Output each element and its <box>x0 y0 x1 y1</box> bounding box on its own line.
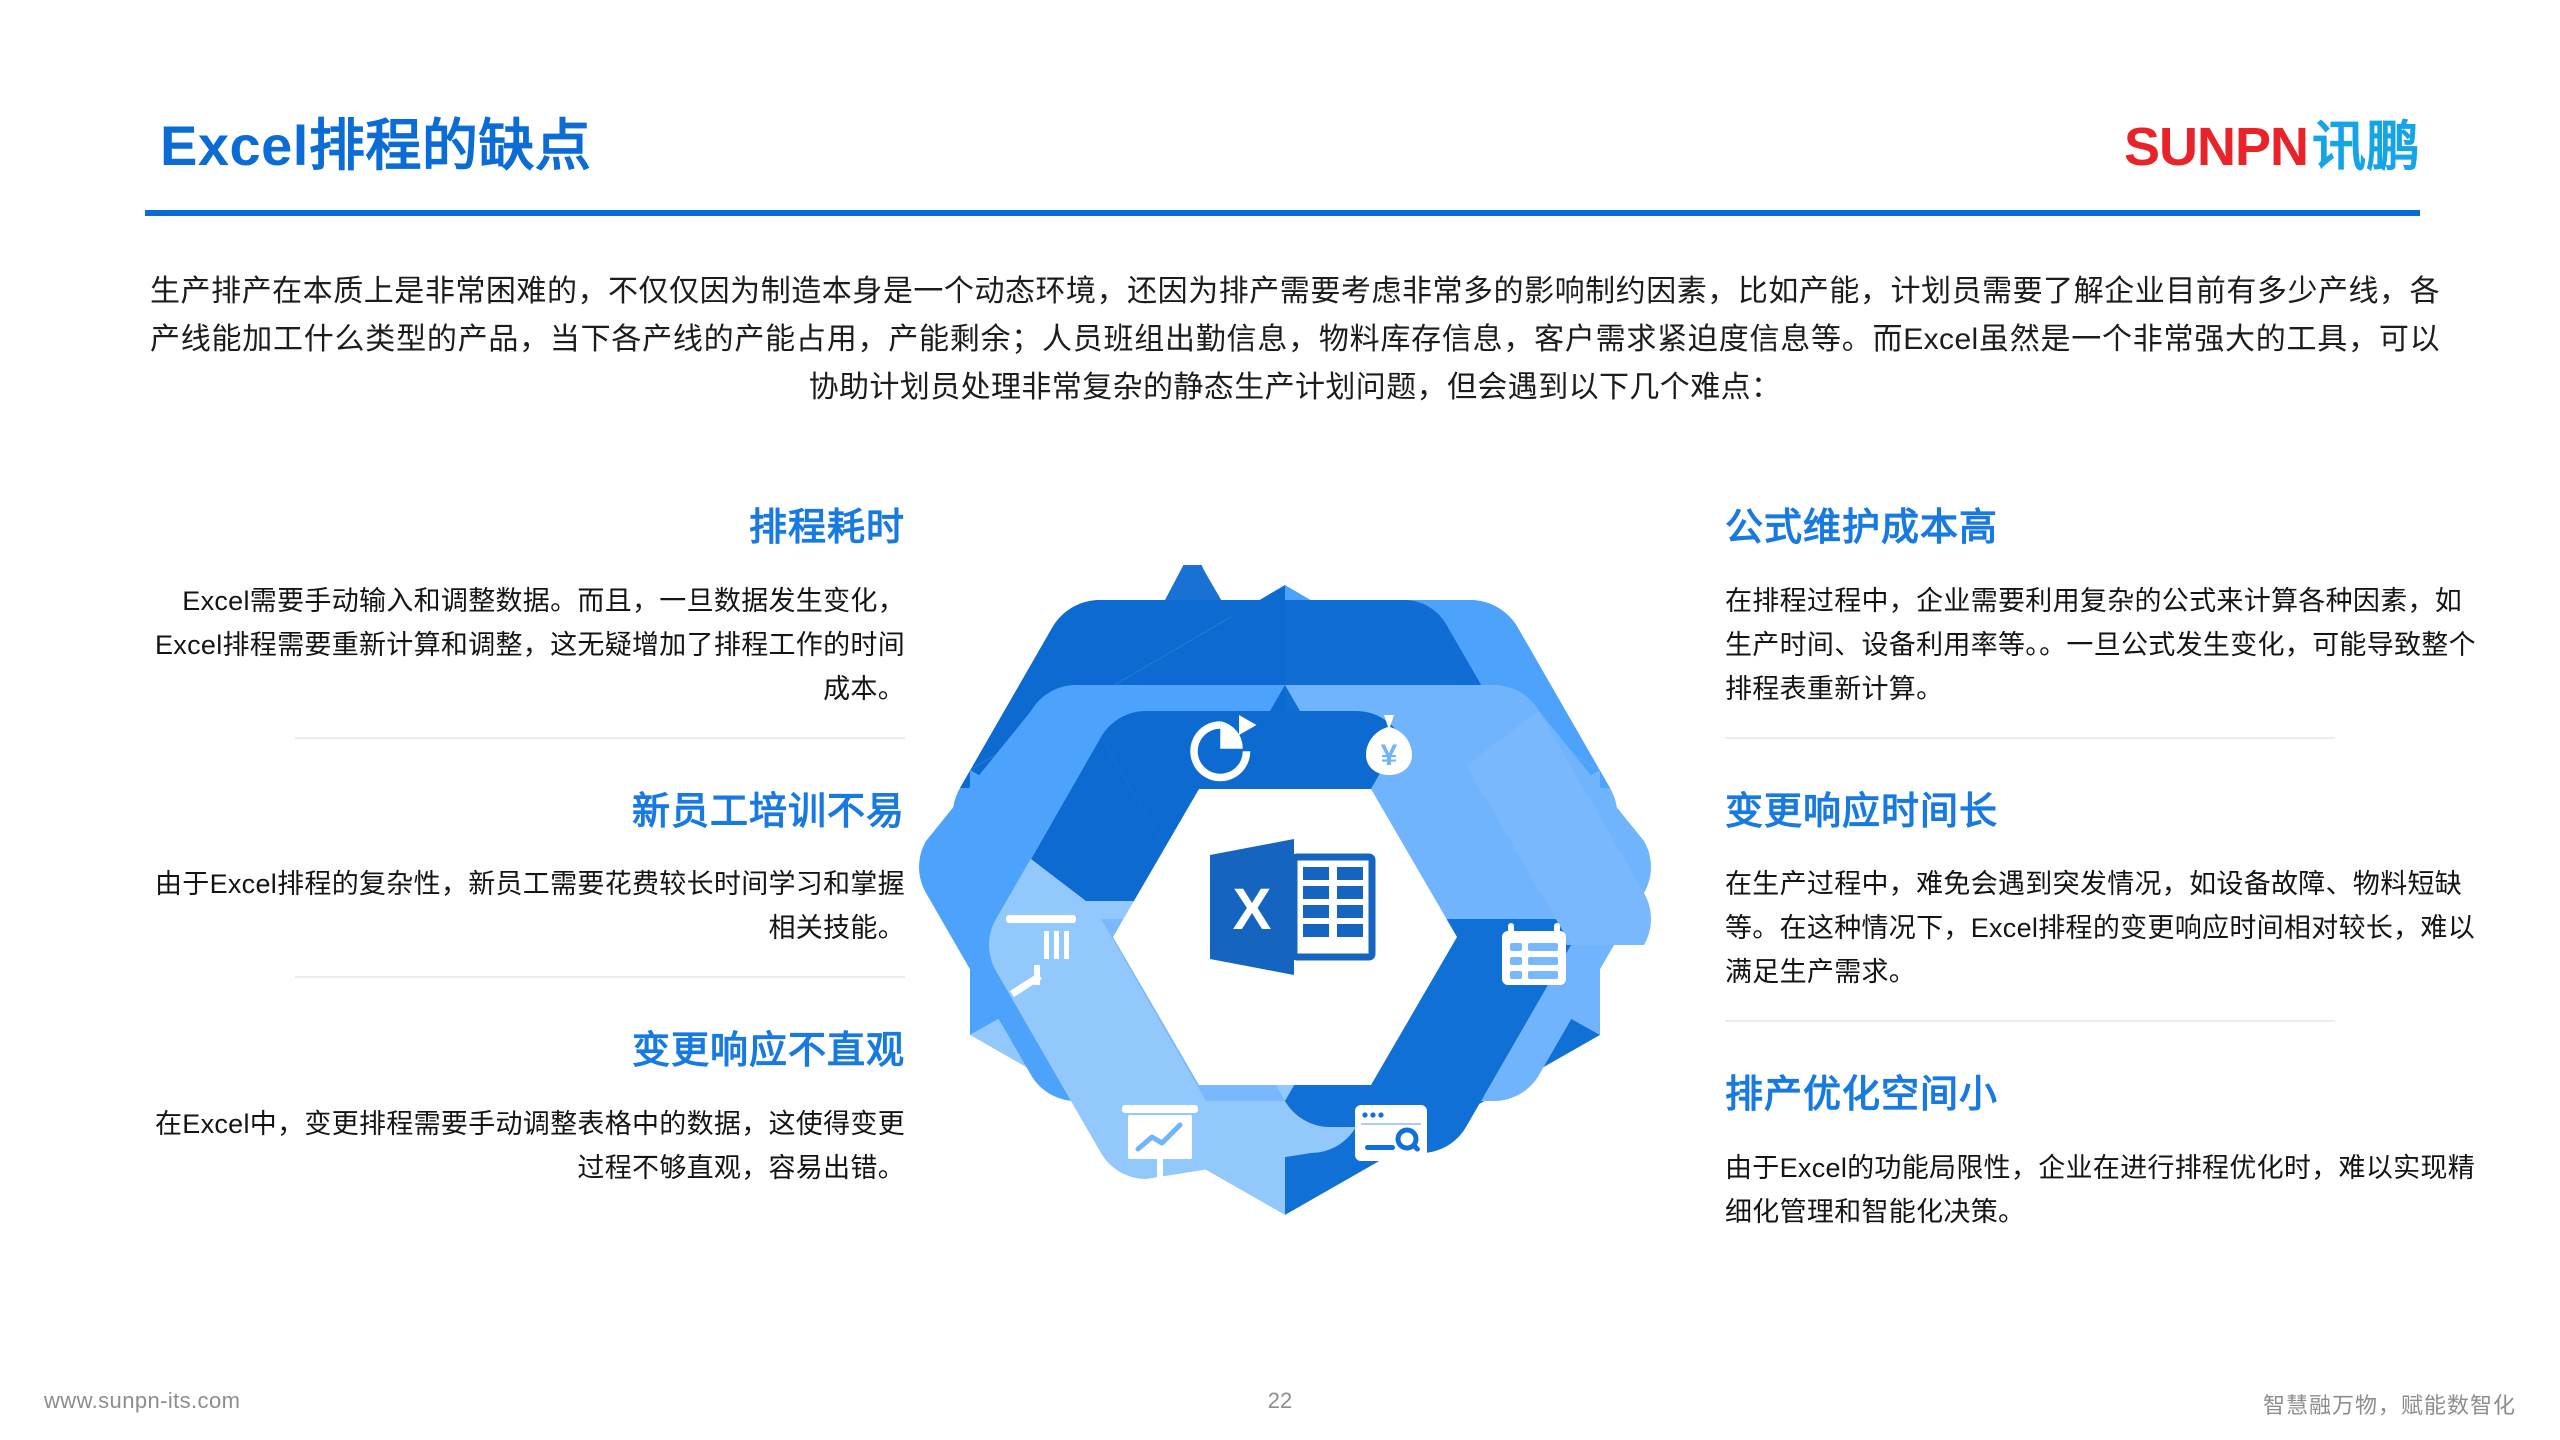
brand-logo-en: SUNPN <box>2124 117 2308 177</box>
intro-paragraph: 生产排产在本质上是非常困难的，不仅仅因为制造本身是一个动态环境，还因为排产需要考… <box>150 268 2440 412</box>
block-divider <box>295 737 905 739</box>
brand-logo-cn: 讯鹏 <box>2312 117 2420 177</box>
right-column: 公式维护成本高 在排程过程中，企业需要利用复杂的公式来计算各种因素，如生产时间、… <box>1725 505 2485 1234</box>
block-divider <box>295 976 905 978</box>
block-title: 变更响应时间长 <box>1725 789 2485 837</box>
block-body: 由于Excel的功能局限性，企业在进行排程优化时，难以实现精细化管理和智能化决策… <box>1725 1146 2485 1234</box>
block-divider <box>1725 737 2335 739</box>
feature-block-formula-cost: 公式维护成本高 在排程过程中，企业需要利用复杂的公式来计算各种因素，如生产时间、… <box>1725 505 2485 739</box>
block-title: 公式维护成本高 <box>1725 505 2485 553</box>
block-title: 排程耗时 <box>145 505 905 553</box>
calendar-list-icon <box>1502 923 1566 985</box>
block-divider <box>1725 1020 2335 1022</box>
block-body: 在排程过程中，企业需要利用复杂的公式来计算各种因素，如生产时间、设备利用率等。。… <box>1725 579 2485 711</box>
feature-block-scheduling-time: 排程耗时 Excel需要手动输入和调整数据。而且，一旦数据发生变化，Excel排… <box>145 505 905 739</box>
feature-block-change-visibility: 变更响应不直观 在Excel中，变更排程需要手动调整表格中的数据，这使得变更过程… <box>145 1028 905 1190</box>
hexagon-infographic: ¥ <box>900 565 1670 1235</box>
block-body: 由于Excel排程的复杂性，新员工需要花费较长时间学习和掌握相关技能。 <box>145 862 905 950</box>
block-title: 新员工培训不易 <box>145 789 905 837</box>
feature-block-optimization-space: 排产优化空间小 由于Excel的功能局限性，企业在进行排程优化时，难以实现精细化… <box>1725 1072 2485 1234</box>
feature-block-response-time: 变更响应时间长 在生产过程中，难免会遇到突发情况，如设备故障、物料短缺等。在这种… <box>1725 789 2485 1023</box>
excel-logo-letter: X <box>1233 877 1272 942</box>
header-divider <box>145 210 2420 216</box>
excel-logo: X <box>1210 839 1372 975</box>
slide-header: Excel排程的缺点 SUNPN讯鹏 <box>0 0 2560 215</box>
feature-block-training: 新员工培训不易 由于Excel排程的复杂性，新员工需要花费较长时间学习和掌握相关… <box>145 789 905 979</box>
svg-text:¥: ¥ <box>1381 739 1398 772</box>
block-body: 在Excel中，变更排程需要手动调整表格中的数据，这使得变更过程不够直观，容易出… <box>145 1102 905 1190</box>
page-title: Excel排程的缺点 <box>160 118 591 174</box>
block-title: 变更响应不直观 <box>145 1028 905 1076</box>
left-column: 排程耗时 Excel需要手动输入和调整数据。而且，一旦数据发生变化，Excel排… <box>145 505 905 1190</box>
browser-search-icon <box>1355 1105 1427 1161</box>
block-body: Excel需要手动输入和调整数据。而且，一旦数据发生变化，Excel排程需要重新… <box>145 579 905 711</box>
footer-page-number: 22 <box>0 1388 2560 1414</box>
block-body: 在生产过程中，难免会遇到突发情况，如设备故障、物料短缺等。在这种情况下，Exce… <box>1725 862 2485 994</box>
brand-logo: SUNPN讯鹏 <box>2124 120 2420 174</box>
block-title: 排产优化空间小 <box>1725 1072 2485 1120</box>
footer-slogan: 智慧融万物，赋能数智化 <box>2263 1388 2516 1420</box>
